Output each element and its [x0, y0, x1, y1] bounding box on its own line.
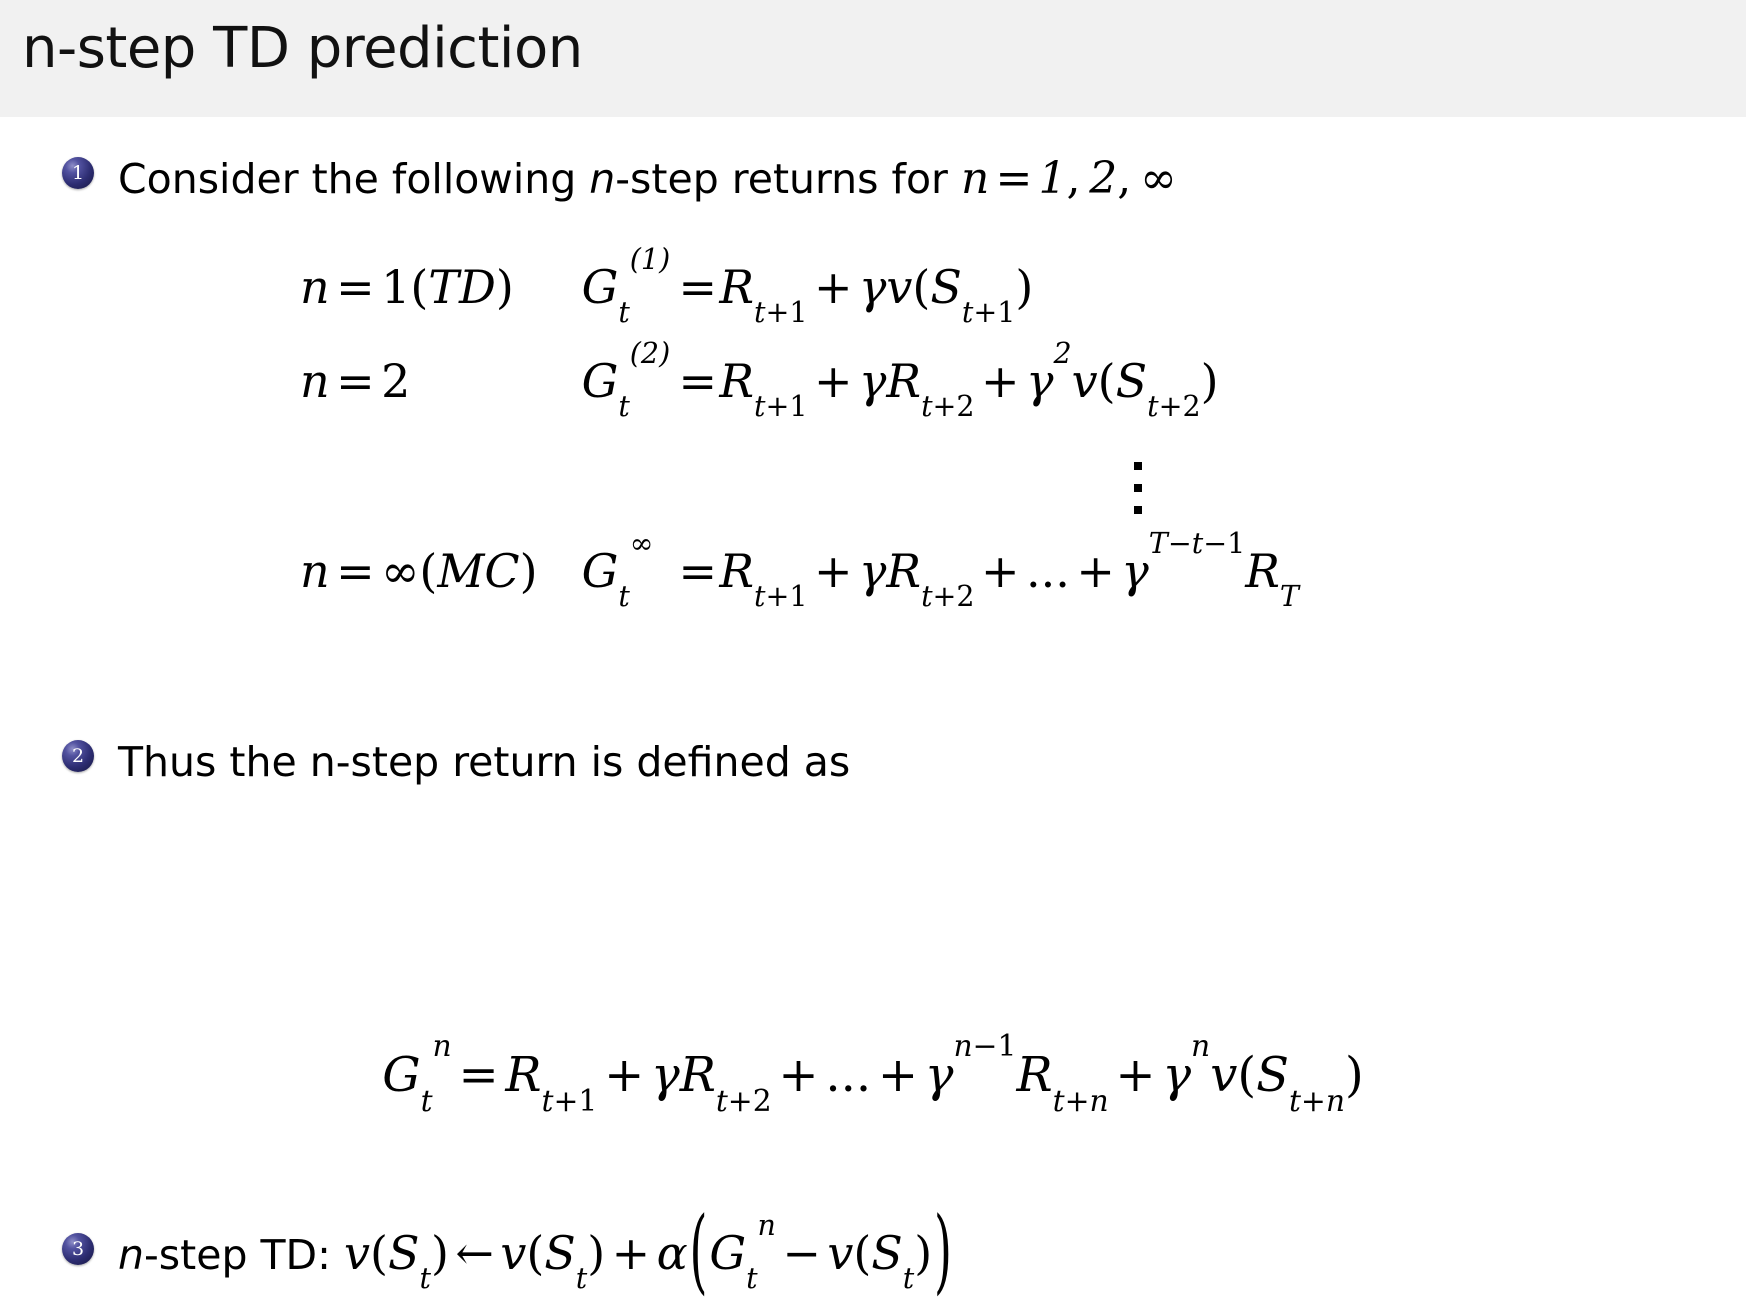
list-item-3-text: n-step TD: v(St)←v(St)+α(Gtn−v(St)) — [118, 1230, 954, 1276]
equation-lhs-n2: Gt(2) — [582, 354, 677, 448]
vertical-dots-icon — [1134, 448, 1142, 514]
equation-align-table: n=1(TD) Gt(1) =Rt+1+γv(St+1) n=2 Gt(2) =… — [300, 260, 1299, 638]
equation-rhs-n1: =Rt+1+γv(St+1) — [676, 260, 1299, 354]
item3-label-rest: -step TD: — [144, 1231, 331, 1279]
item1-text-before: Consider the following — [118, 155, 589, 203]
page-title: n-step TD prediction — [22, 16, 583, 81]
list-item-2-text: Thus the n-step return is defined as — [118, 742, 850, 783]
list-item-2: 2 Thus the n-step return is defined as — [62, 742, 850, 783]
enumerate-ball-3-label: 3 — [62, 1233, 94, 1265]
equation-rhs-ninf: =Rt+1+γRt+2+...+γT−t−1RT — [676, 544, 1299, 638]
equation-row-n2: n=2 Gt(2) =Rt+1+γRt+2+γ2v(St+2) — [300, 354, 1299, 448]
enumerate-ball-1-icon: 1 — [62, 157, 94, 189]
equation-row-ninf: n=∞(MC) Gt∞ =Rt+1+γRt+2+...+γT−t−1RT — [300, 544, 1299, 638]
enumerate-ball-1-label: 1 — [62, 157, 94, 189]
list-item-1: 1 Consider the following n-step returns … — [62, 157, 1177, 201]
equation-n-step-td-update: v(St)←v(St)+α(Gtn−v(St)) — [344, 1226, 954, 1280]
slide-title-bar: n-step TD prediction — [0, 0, 1746, 117]
equation-rhs-n2: =Rt+1+γRt+2+γ2v(St+2) — [676, 354, 1299, 448]
list-item-1-text: Consider the following n-step returns fo… — [118, 157, 1177, 201]
item1-math-tail: n=1, 2, ∞ — [961, 153, 1177, 204]
equation-condition-n1: n=1(TD) — [300, 260, 582, 354]
equation-condition-ninf: n=∞(MC) — [300, 544, 582, 638]
enumerate-ball-2-label: 2 — [62, 740, 94, 772]
equation-condition-n2: n=2 — [300, 354, 582, 448]
enumerate-ball-2-icon: 2 — [62, 740, 94, 772]
slide-content: 1 Consider the following n-step returns … — [0, 117, 1746, 1256]
item3-italic-n: n — [118, 1231, 144, 1279]
equation-lhs-ninf: Gt∞ — [582, 544, 677, 638]
list-item-3: 3 n-step TD: v(St)←v(St)+α(Gtn−v(St)) — [62, 1230, 954, 1276]
item1-italic-n: n — [589, 155, 615, 203]
equation-row-n1: n=1(TD) Gt(1) =Rt+1+γv(St+1) — [300, 260, 1299, 354]
equation-n-step-return: Gtn=Rt+1+γRt+2+...+γn−1Rt+n+γnv(St+n) — [0, 1047, 1746, 1103]
enumerate-ball-3-icon: 3 — [62, 1233, 94, 1265]
item1-text-after: -step returns for — [615, 155, 961, 203]
equation-block-n-step-returns: n=1(TD) Gt(1) =Rt+1+γv(St+1) n=2 Gt(2) =… — [300, 260, 1299, 638]
